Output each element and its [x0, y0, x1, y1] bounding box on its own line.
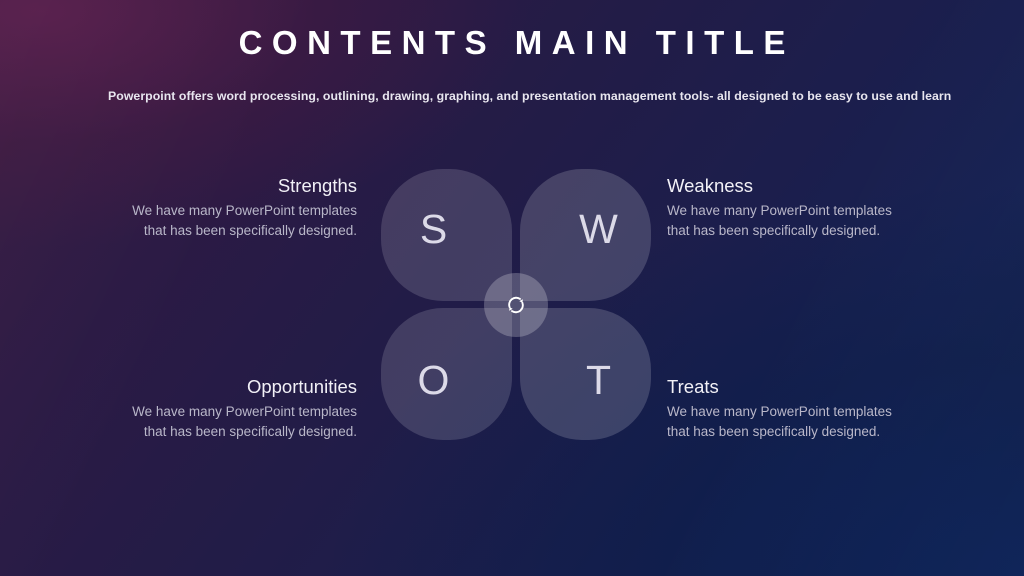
quadrant-body-weakness: We have many PowerPoint templates that h…: [667, 201, 919, 240]
quadrant-body-line: that has been specifically designed.: [667, 422, 919, 442]
quadrant-body-strengths: We have many PowerPoint templates that h…: [105, 201, 357, 240]
quadrant-weakness: Weakness We have many PowerPoint templat…: [667, 174, 919, 240]
quadrant-heading-opportunities: Opportunities: [105, 375, 357, 399]
quadrant-heading-treats: Treats: [667, 375, 919, 399]
quadrant-body-line: We have many PowerPoint templates: [105, 201, 357, 221]
quadrant-body-line: that has been specifically designed.: [667, 221, 919, 241]
petal-letter-s: S: [420, 209, 447, 250]
petal-weakness[interactable]: W: [520, 169, 651, 301]
petal-treats[interactable]: T: [520, 308, 651, 440]
quadrant-body-opportunities: We have many PowerPoint templates that h…: [105, 402, 357, 441]
quadrant-body-line: We have many PowerPoint templates: [667, 402, 919, 422]
quadrant-strengths: Strengths We have many PowerPoint templa…: [105, 174, 357, 240]
petal-letter-t: T: [586, 360, 611, 401]
quadrant-heading-strengths: Strengths: [105, 174, 357, 198]
quadrant-treats: Treats We have many PowerPoint templates…: [667, 375, 919, 441]
quadrant-body-treats: We have many PowerPoint templates that h…: [667, 402, 919, 441]
petal-opportunities[interactable]: O: [381, 308, 512, 440]
petal-letter-w: W: [579, 209, 618, 250]
quadrant-body-line: We have many PowerPoint templates: [105, 402, 357, 422]
quadrant-heading-weakness: Weakness: [667, 174, 919, 198]
sync-refresh-icon: [503, 292, 529, 318]
quadrant-opportunities: Opportunities We have many PowerPoint te…: [105, 375, 357, 441]
quadrant-body-line: that has been specifically designed.: [105, 422, 357, 442]
page-subtitle: Powerpoint offers word processing, outli…: [108, 87, 922, 105]
petal-letter-o: O: [418, 360, 450, 401]
slide-canvas: CONTENTS MAIN TITLE Powerpoint offers wo…: [0, 0, 1024, 576]
center-hub[interactable]: [484, 273, 548, 337]
petal-strengths[interactable]: S: [381, 169, 512, 301]
page-title: CONTENTS MAIN TITLE: [0, 23, 1024, 63]
swot-petal-cluster: S W O T: [381, 169, 651, 440]
quadrant-body-line: that has been specifically designed.: [105, 221, 357, 241]
quadrant-body-line: We have many PowerPoint templates: [667, 201, 919, 221]
